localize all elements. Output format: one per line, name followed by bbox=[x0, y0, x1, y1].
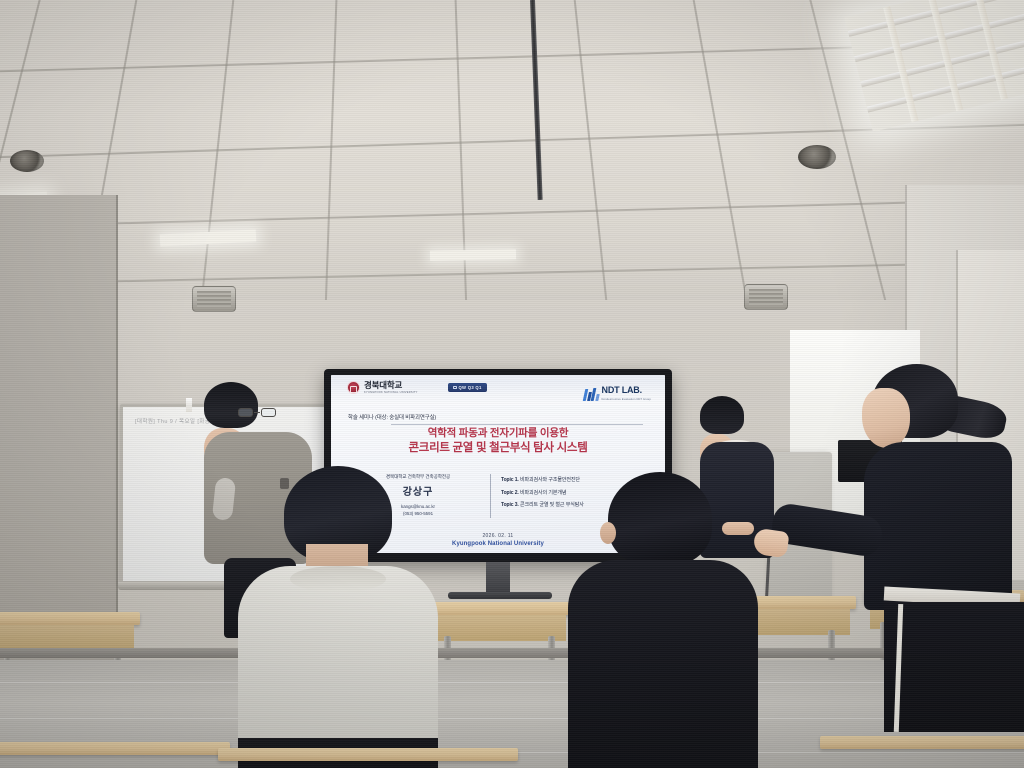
desk-apron bbox=[438, 615, 566, 641]
lab-logo-subtitle: Nondestructive Evaluation NDT Group bbox=[602, 399, 651, 402]
desk-center bbox=[432, 602, 572, 648]
desk-front-center bbox=[218, 748, 518, 768]
ceiling-speaker-icon bbox=[10, 150, 44, 172]
desk-surface bbox=[0, 742, 230, 755]
classroom-photo: [대학원] Thu 9 / 목요일 [화공과] 경북대학교 KYUNGPOOK … bbox=[0, 0, 1024, 768]
badge-square-icon bbox=[453, 386, 457, 390]
desk-surface bbox=[0, 612, 140, 625]
desk-surface bbox=[432, 602, 572, 615]
slide-title: 역학적 파동과 전자기파를 이용한 콘크리트 균열 및 철근부식 탐사 시스템 bbox=[331, 427, 665, 456]
collar bbox=[290, 566, 386, 592]
ear bbox=[600, 522, 616, 544]
wall-speaker-icon bbox=[744, 284, 788, 310]
torso-hoodie bbox=[864, 442, 1012, 610]
person-seated-right bbox=[568, 472, 760, 768]
torso-sweater bbox=[238, 566, 438, 762]
lab-logo: NDT LAB. Nondestructive Evaluation NDT G… bbox=[584, 381, 651, 401]
track-pants bbox=[884, 602, 1024, 732]
face bbox=[862, 388, 910, 448]
lab-logo-title: NDT LAB. bbox=[602, 385, 642, 395]
university-name-en: KYUNGPOOK NATIONAL UNIVERSITY bbox=[364, 391, 418, 394]
desk-surface bbox=[218, 748, 518, 761]
topic-label: Topic 1. bbox=[501, 477, 519, 483]
wall-speaker-icon bbox=[192, 286, 236, 312]
display-stand bbox=[486, 562, 510, 594]
person-seated-left bbox=[238, 466, 438, 768]
topic-label: Topic 2. bbox=[501, 490, 519, 496]
head bbox=[608, 472, 712, 566]
slide-title-line2: 콘크리트 균열 및 철근부식 탐사 시스템 bbox=[331, 441, 665, 456]
badge-label: QW Q3 Q1 bbox=[459, 385, 482, 390]
knu-crest-icon bbox=[347, 381, 360, 394]
university-name-ko: 경북대학교 bbox=[364, 381, 418, 390]
hair bbox=[700, 396, 744, 434]
ceiling-speaker-icon bbox=[798, 145, 836, 169]
hair bbox=[204, 382, 258, 428]
display-base bbox=[448, 592, 552, 599]
title-divider bbox=[391, 424, 643, 425]
ndt-waveform-icon bbox=[584, 388, 599, 401]
slide-vertical-divider bbox=[490, 474, 491, 518]
status-badge: QW Q3 Q1 bbox=[448, 383, 487, 392]
desk-front-left bbox=[0, 742, 230, 768]
glasses-icon bbox=[237, 408, 277, 417]
topic-text: 비파괴검사의 기본개념 bbox=[520, 490, 566, 496]
slide-kicker: 학술 세미나 (대상: 숭실대 비파괴연구실) bbox=[348, 413, 436, 421]
topic-label: Topic 3. bbox=[501, 502, 519, 508]
ceiling-light-fixture bbox=[430, 249, 516, 260]
university-logo: 경북대학교 KYUNGPOOK NATIONAL UNIVERSITY bbox=[347, 381, 418, 394]
whiteboard-light-reflection bbox=[186, 398, 192, 412]
slide-title-line1: 역학적 파동과 전자기파를 이용한 bbox=[331, 427, 665, 441]
torso-dark bbox=[568, 560, 758, 768]
person-standing-right bbox=[838, 364, 1024, 768]
drop-ceiling bbox=[0, 0, 1024, 330]
